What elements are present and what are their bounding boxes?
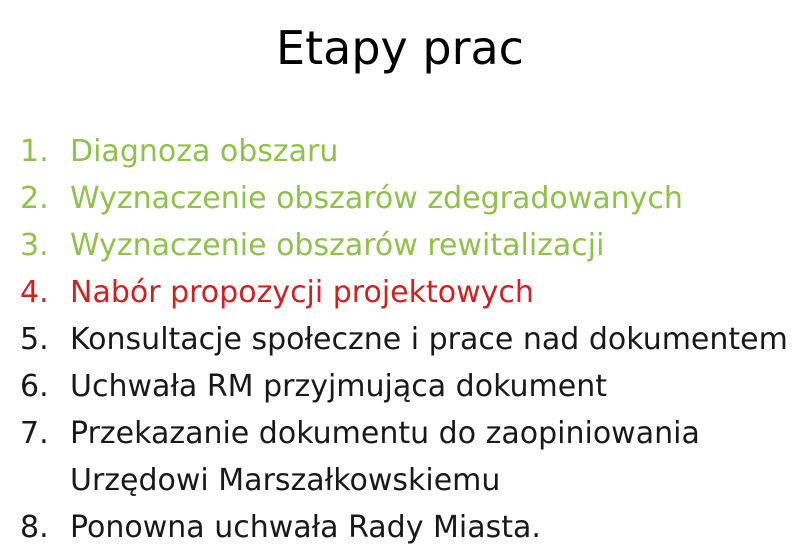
- list-item-number: 8.: [16, 504, 70, 551]
- list-item-label: Konsultacje społeczne i prace nad dokume…: [70, 316, 788, 363]
- list-item: 6. Uchwała RM przyjmująca dokument: [16, 363, 788, 410]
- slide-canvas: Etapy prac 1. Diagnoza obszaru 2. Wyznac…: [0, 0, 800, 560]
- list-item: 5. Konsultacje społeczne i prace nad dok…: [16, 316, 788, 363]
- list-item-label: Przekazanie dokumentu do zaopiniowania U…: [70, 410, 788, 504]
- list-item: 2. Wyznaczenie obszarów zdegradowanych: [16, 175, 788, 222]
- list-item-number: 5.: [16, 316, 70, 363]
- list-item: 4. Nabór propozycji projektowych: [16, 269, 788, 316]
- list-item-label-line: Przekazanie dokumentu do zaopiniowania: [70, 410, 788, 457]
- list-item-label: Wyznaczenie obszarów rewitalizacji: [70, 222, 788, 269]
- list-item-label: Nabór propozycji projektowych: [70, 269, 788, 316]
- list-item-label: Ponowna uchwała Rady Miasta.: [70, 504, 788, 551]
- list-item-number: 6.: [16, 363, 70, 410]
- list-item: 3. Wyznaczenie obszarów rewitalizacji: [16, 222, 788, 269]
- process-steps-list: 1. Diagnoza obszaru 2. Wyznaczenie obsza…: [16, 128, 788, 551]
- list-item-label: Wyznaczenie obszarów zdegradowanych: [70, 175, 788, 222]
- list-item-number: 3.: [16, 222, 70, 269]
- list-item-number: 1.: [16, 128, 70, 175]
- list-item: 8. Ponowna uchwała Rady Miasta.: [16, 504, 788, 551]
- list-item: 7. Przekazanie dokumentu do zaopiniowani…: [16, 410, 788, 504]
- list-item-number: 7.: [16, 410, 70, 457]
- list-item-label-line: Urzędowi Marszałkowskiemu: [70, 457, 788, 504]
- page-title: Etapy prac: [0, 22, 800, 75]
- list-item-number: 2.: [16, 175, 70, 222]
- list-item-number: 4.: [16, 269, 70, 316]
- list-item: 1. Diagnoza obszaru: [16, 128, 788, 175]
- list-item-label: Uchwała RM przyjmująca dokument: [70, 363, 788, 410]
- list-item-label: Diagnoza obszaru: [70, 128, 788, 175]
